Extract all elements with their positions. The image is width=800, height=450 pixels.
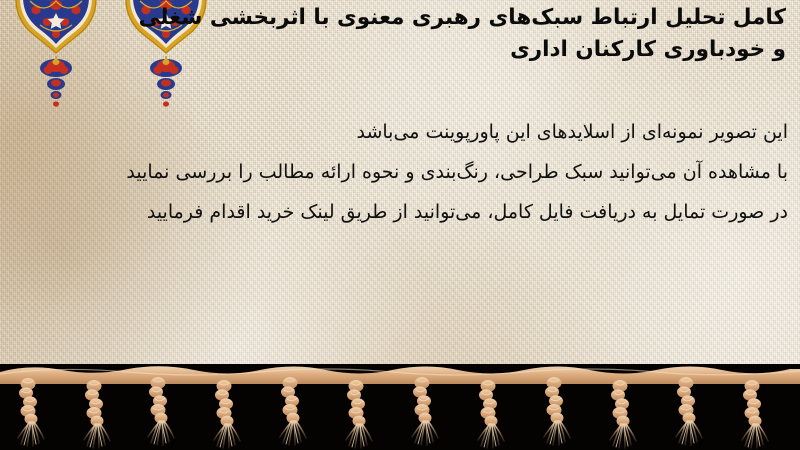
fringe-tassels-icon (0, 350, 800, 450)
carpet-fringe-border (0, 350, 800, 450)
pendant-drop-2 (150, 56, 182, 107)
slide-canvas: کامل تحلیل ارتباط سبک‌های رهبری معنوی با… (0, 0, 800, 450)
body-line-2: با مشاهده آن می‌توانید سبک طراحی، رنگ‌بن… (6, 152, 788, 192)
slide-title: کامل تحلیل ارتباط سبک‌های رهبری معنوی با… (186, 4, 786, 64)
title-line-1: کامل تحلیل ارتباط سبک‌های رهبری معنوی با… (186, 4, 786, 32)
body-line-3: در صورت تمایل به دریافت فایل کامل، می‌تو… (6, 192, 788, 232)
slide-body-text: این تصویر نمونه‌ای از اسلایدهای این پاور… (6, 112, 788, 232)
title-line-2: و خودباوری کارکنان اداری (186, 36, 786, 64)
body-line-1: این تصویر نمونه‌ای از اسلایدهای این پاور… (6, 112, 788, 152)
pendant-drop-1 (40, 56, 72, 107)
